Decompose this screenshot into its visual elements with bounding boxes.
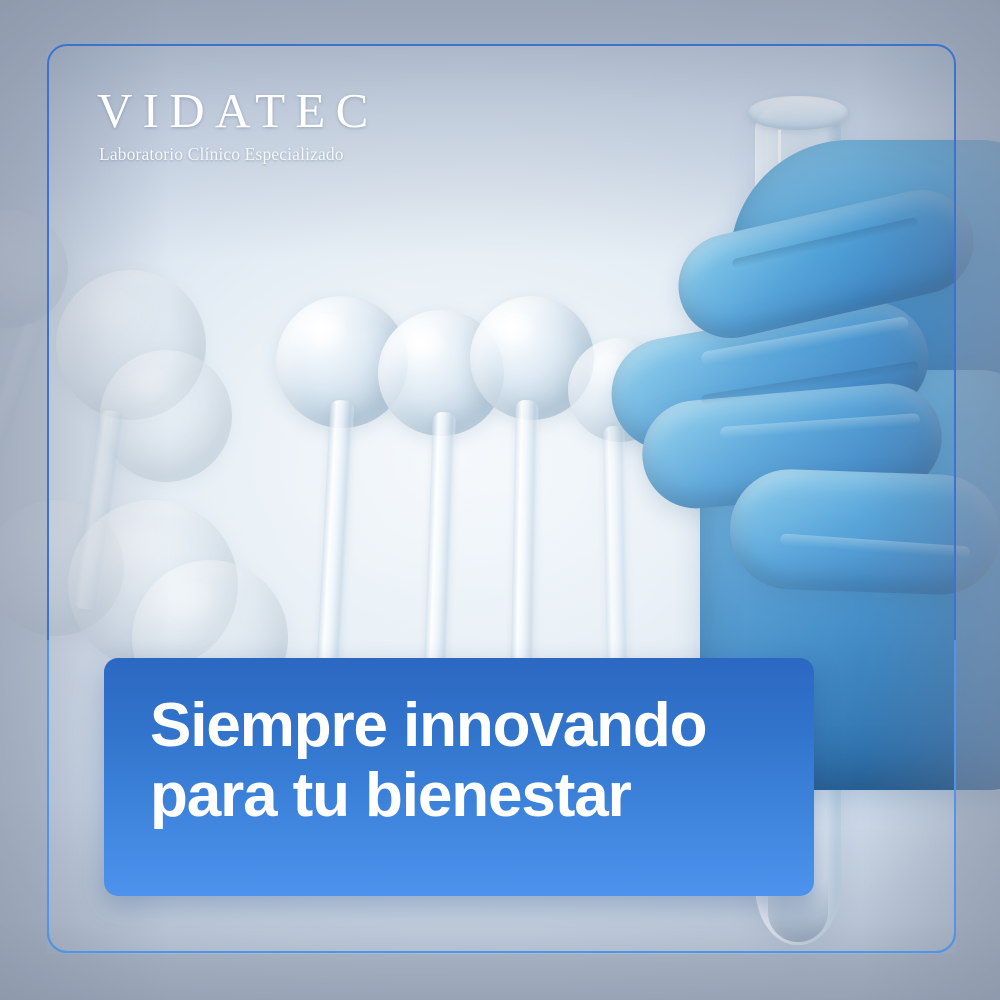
brand-logo: VIDATEC Laboratorio Clínico Especializad… <box>97 86 379 165</box>
brand-name: VIDATEC <box>97 86 379 135</box>
headline-line-2: para tu bienestar <box>150 764 794 828</box>
headline-line-1: Siempre innovando <box>150 694 794 758</box>
headline-text: Siempre innovando para tu bienestar <box>150 694 794 829</box>
headline-banner: Siempre innovando para tu bienestar <box>104 658 814 896</box>
promo-poster: VIDATEC Laboratorio Clínico Especializad… <box>0 0 1000 1000</box>
brand-tagline: Laboratorio Clínico Especializado <box>99 144 379 165</box>
